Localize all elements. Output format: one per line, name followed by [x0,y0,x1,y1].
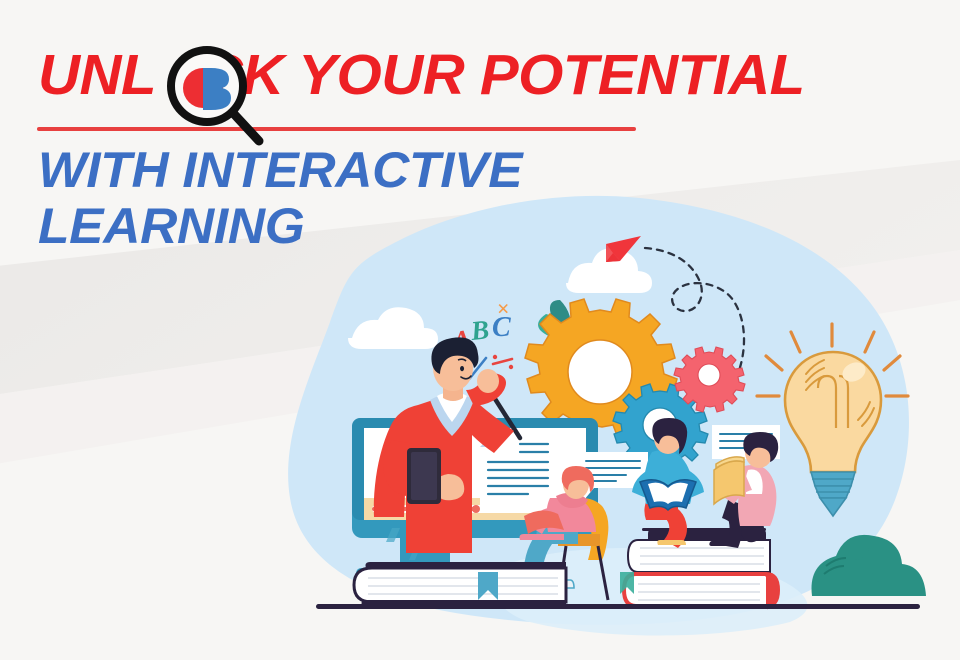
lightbulb-base [811,472,855,516]
lightbulb-glass [785,352,881,472]
teacher-tablet-screen [411,452,437,500]
banner-root: A B C × [0,0,960,660]
base-book [354,562,566,605]
reader1-laptop-base [520,534,565,540]
divide-symbol [493,355,513,369]
lightbulb-icon [757,324,908,516]
video-progress-handle [472,505,480,513]
teacher-eye [460,366,464,371]
reader2-shoe [657,540,686,545]
cloud-left [348,307,438,349]
ground-line [316,604,920,609]
stack-book-bottom [622,572,780,608]
illustration-layer: A B C × [0,0,960,660]
bush-shrub [812,535,927,596]
teacher-hand-right [477,369,499,393]
multiply-symbol: × [497,296,510,321]
